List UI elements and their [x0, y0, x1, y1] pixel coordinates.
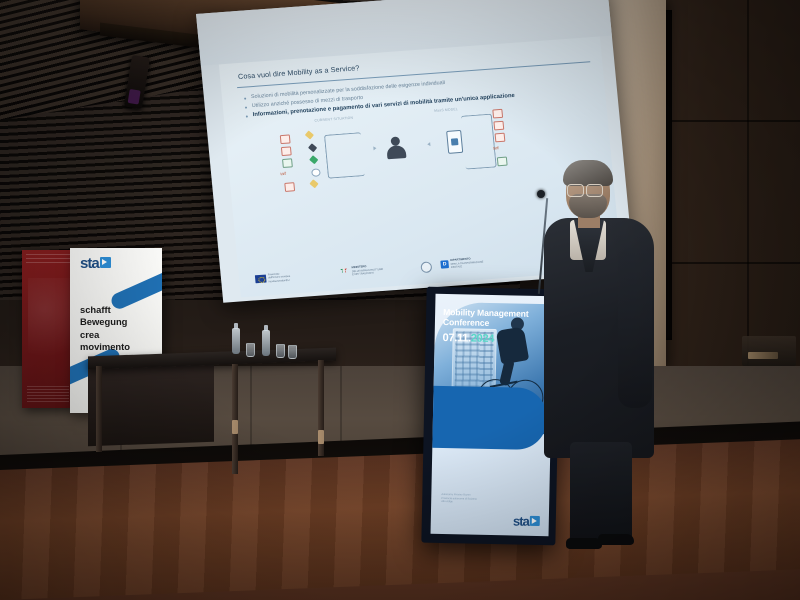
leg-light-reflection	[232, 420, 238, 434]
province-line-3: Alto Adige	[441, 500, 453, 503]
eu-funding-logo: Finanziato dall'Unione europea NextGener…	[255, 272, 291, 285]
ticket-chip	[311, 168, 321, 177]
transport-icon-car	[282, 158, 293, 168]
eu-logo-line3: NextGenerationEU	[268, 279, 289, 284]
presenter-shoe	[598, 534, 634, 545]
sta-arrow-icon	[100, 257, 111, 268]
province-logo: Autonome Provinz Bozen Provincia autonom…	[441, 492, 477, 505]
dtd-logo: D DIPARTIMENTO PER LA TRASFORMAZIONE DIG…	[440, 257, 484, 270]
bullet-dot	[245, 107, 247, 109]
transport-icon-car	[495, 132, 506, 142]
transport-icon-tram	[281, 146, 292, 156]
sta-wordmark: sta	[513, 514, 529, 527]
repubblica-italiana-seal	[420, 261, 432, 273]
transport-icon-bike	[284, 182, 295, 192]
dtd-line3: DIGITALE	[451, 265, 462, 269]
eu-flag-icon	[255, 275, 267, 284]
leg-light-reflection	[318, 430, 324, 444]
mit-logo: MINISTERO DELLE INFRASTRUTTURE E DEI TRA…	[340, 264, 383, 277]
presenter-beard	[569, 194, 607, 218]
dtd-badge-icon: D	[440, 260, 449, 269]
event-date: 07.11.2024	[442, 332, 494, 345]
event-date-year: 2024	[471, 333, 495, 345]
bullet-dot	[244, 98, 246, 100]
sta-logo: sta	[80, 256, 111, 271]
drinking-glass	[288, 345, 297, 359]
mit-line3: E DEI TRASPORTI	[352, 272, 374, 277]
sta-arrow-icon	[530, 516, 540, 526]
av-equipment-highlight	[748, 352, 778, 359]
water-bottle	[262, 330, 270, 356]
maas-app-phone	[446, 129, 463, 153]
presenter-arm	[618, 248, 652, 408]
event-title: Mobility Management Conference	[443, 308, 539, 329]
transport-icon-bike	[497, 156, 508, 166]
transport-icon-tram	[493, 120, 504, 130]
slogan-de-1: schafft	[80, 304, 111, 315]
eyeglasses-left-lens	[567, 184, 584, 197]
transport-icon-train	[280, 134, 291, 144]
state-seal-icon	[420, 261, 432, 273]
banner-slogan: schafft Bewegung crea movimento	[80, 304, 130, 354]
ticket-chip	[309, 155, 318, 164]
diagram-left-label: CURRENT SITUATION	[314, 115, 353, 122]
ticket-chip	[308, 143, 317, 152]
title-banner-shape	[431, 386, 548, 450]
table-modesty-panel	[88, 360, 214, 446]
drinking-glass	[276, 344, 285, 358]
table-leg	[96, 366, 102, 452]
diagram-right-label: MaaS MODEL	[434, 107, 458, 113]
traveller-avatar	[385, 136, 406, 159]
event-date-day: 07.11.	[442, 332, 470, 345]
eyeglasses-right-lens	[586, 184, 603, 197]
transport-icon-train	[492, 108, 503, 118]
conference-photo-scene: Cosa vuol dire Mobility as a Service? So…	[0, 0, 800, 600]
slogan-it-1: crea	[80, 329, 99, 340]
slogan-it-2: movimento	[80, 341, 130, 352]
bullet-dot	[246, 116, 248, 118]
sta-logo-podium: sta	[513, 514, 540, 528]
av-equipment	[742, 336, 796, 366]
italy-star-icon	[341, 267, 351, 277]
red-roll-up-banner	[22, 250, 74, 408]
diagram-left-tariff: tarif	[280, 170, 286, 175]
diagram-right-tariff: tarif	[493, 145, 499, 150]
sta-wordmark: sta	[80, 256, 99, 271]
water-bottle	[232, 328, 240, 354]
table-leg	[232, 364, 238, 474]
presenter-hair	[563, 160, 613, 186]
slogan-de-2: Bewegung	[80, 316, 127, 327]
ticket-chip	[309, 179, 318, 188]
ticket-chip	[305, 130, 314, 139]
presenter	[540, 160, 658, 546]
presenter-trousers	[570, 442, 632, 544]
drinking-glass	[246, 343, 255, 357]
presenter-shoe	[566, 538, 602, 549]
